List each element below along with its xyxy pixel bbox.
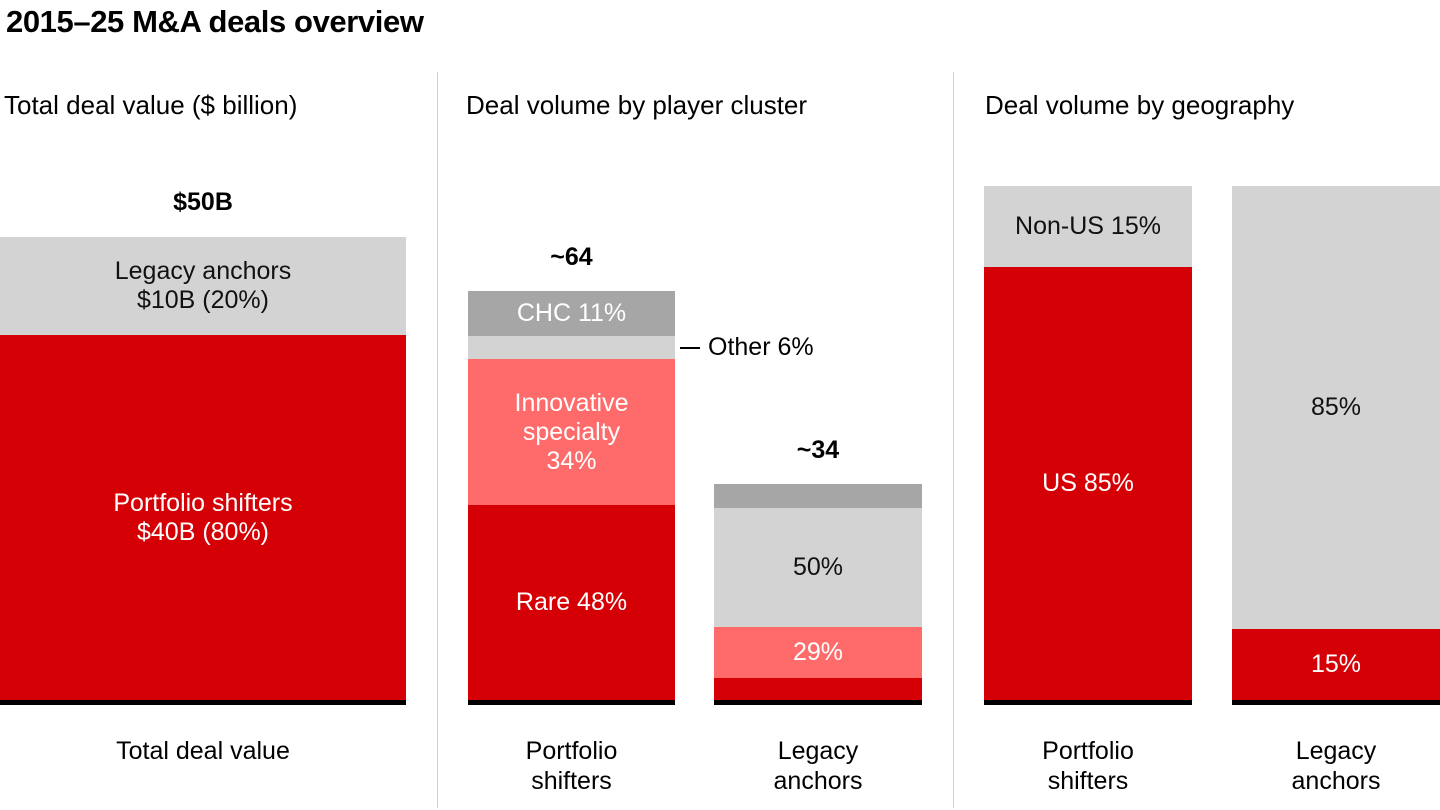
bar-total-label-cluster-portfolio-shifters: ~64 <box>468 243 675 272</box>
segment-non-us-geo-portfolio[interactable]: Non-US 15% <box>984 186 1192 267</box>
category-label-total-deal-value: Total deal value <box>0 736 406 766</box>
segment-legacy-anchors-value[interactable]: Legacy anchors $10B (20%) <box>0 237 406 335</box>
segment-label: Legacy anchors $10B (20%) <box>115 257 292 315</box>
bar-total-label-cluster-legacy-anchors: ~34 <box>714 436 922 465</box>
segment-innovative-specialty-cluster-legacy[interactable]: 29% <box>714 627 922 678</box>
axis-baseline <box>0 700 406 705</box>
segment-portfolio-shifters-value[interactable]: Portfolio shifters $40B (80%) <box>0 335 406 700</box>
segment-label: US 85% <box>1042 469 1134 498</box>
segment-label: Non-US 15% <box>1015 212 1161 241</box>
category-label-geo-legacy-anchors: Legacy anchors <box>1232 736 1440 796</box>
axis-baseline <box>468 700 675 705</box>
segment-rare-cluster-portfolio[interactable]: Rare 48% <box>468 505 675 700</box>
category-label-cluster-legacy-anchors: Legacy anchors <box>714 736 922 796</box>
segment-label: 15% <box>1311 650 1361 679</box>
segment-chc-cluster-legacy[interactable] <box>714 484 922 508</box>
segment-label: Portfolio shifters $40B (80%) <box>113 489 292 547</box>
panel-divider-right <box>953 72 954 808</box>
segment-chc-cluster-portfolio[interactable]: CHC 11% <box>468 291 675 336</box>
leader-line-icon <box>680 347 700 349</box>
segment-us-geo-portfolio[interactable]: US 85% <box>984 267 1192 700</box>
segment-label: Rare 48% <box>516 588 627 617</box>
callout-other-label: Other 6% <box>708 333 814 362</box>
category-label-geo-portfolio-shifters: Portfolio shifters <box>984 736 1192 796</box>
segment-non-us-geo-legacy[interactable]: 85% <box>1232 186 1440 629</box>
segment-label: CHC 11% <box>517 299 626 328</box>
segment-label: 29% <box>793 638 843 667</box>
segment-us-geo-legacy[interactable]: 15% <box>1232 629 1440 700</box>
panel-divider-left <box>437 72 438 808</box>
panel-subtitle-geography: Deal volume by geography <box>985 90 1294 121</box>
segment-other-cluster-legacy[interactable]: 50% <box>714 508 922 627</box>
axis-baseline <box>714 700 922 705</box>
panel-subtitle-player-cluster: Deal volume by player cluster <box>466 90 807 121</box>
segment-label: 50% <box>793 553 843 582</box>
page-title: 2015–25 M&A deals overview <box>6 4 424 40</box>
segment-label: Innovative specialty 34% <box>515 389 629 476</box>
panel-subtitle-total-deal-value: Total deal value ($ billion) <box>4 90 297 121</box>
axis-baseline <box>984 700 1192 705</box>
segment-innovative-specialty-cluster-portfolio[interactable]: Innovative specialty 34% <box>468 359 675 505</box>
segment-label: 85% <box>1311 393 1361 422</box>
category-label-cluster-portfolio-shifters: Portfolio shifters <box>468 736 675 796</box>
segment-other-cluster-portfolio[interactable] <box>468 336 675 359</box>
segment-rare-cluster-legacy[interactable] <box>714 678 922 700</box>
bar-total-label-total-deal-value: $50B <box>0 188 406 217</box>
axis-baseline <box>1232 700 1440 705</box>
callout-other: Other 6% <box>680 333 814 362</box>
